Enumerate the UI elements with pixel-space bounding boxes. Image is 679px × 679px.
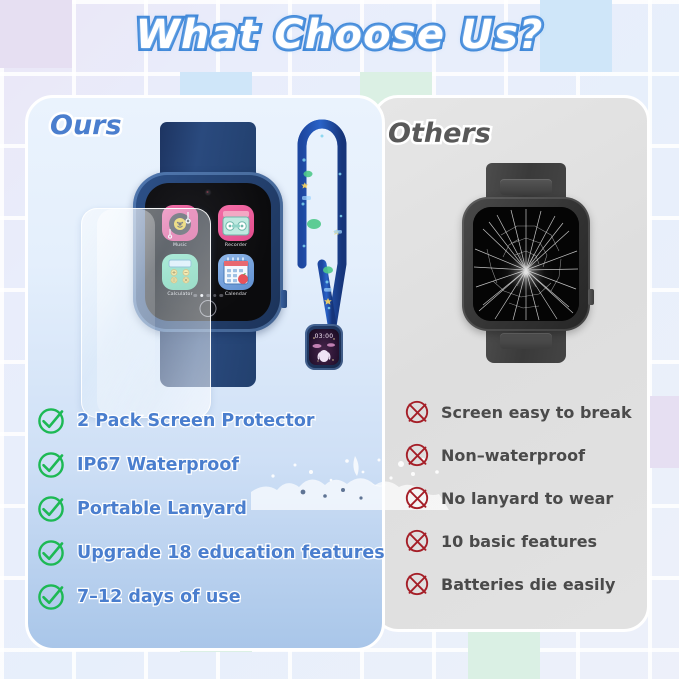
crack-pattern-icon [473,207,579,321]
list-item: IP67 Waterproof [36,450,381,480]
watch-crown-icon [588,289,594,305]
calendar-app-icon [218,254,254,290]
list-item-label: Non–waterproof [441,446,585,465]
ours-feature-list: 2 Pack Screen Protector IP67 Waterproof … [36,406,381,626]
list-item: Screen easy to break [404,399,654,425]
check-circle-icon [36,582,66,612]
screen-protector-sheet [81,208,211,418]
check-circle-icon [36,450,66,480]
list-item: 7–12 days of use [36,582,381,612]
list-item-label: 10 basic features [441,532,597,551]
list-item-label: No lanyard to wear [441,489,613,508]
cross-circle-icon [404,399,430,425]
app-label: Recorder [215,243,257,248]
others-header: Others [388,118,491,149]
list-item: 10 basic features [404,528,654,554]
list-item: Upgrade 18 education features [36,538,381,568]
lanyard-watch-screen: 03:00 [309,329,339,365]
lanyard-watch: 03:00 [305,324,343,370]
lanyard-image: 03:00 [288,112,360,392]
list-item-label: 7–12 days of use [77,587,241,607]
watch-wallpaper-icon [309,329,339,365]
cross-circle-icon [404,528,430,554]
check-circle-icon [36,494,66,524]
cross-circle-icon [404,442,430,468]
page-dot[interactable] [219,294,223,298]
page-dot[interactable] [213,294,217,298]
list-item-label: Portable Lanyard [77,499,247,519]
app-recorder[interactable]: Recorder [215,205,257,248]
check-circle-icon [36,406,66,436]
check-circle-icon [36,538,66,568]
list-item: 2 Pack Screen Protector [36,406,381,436]
cross-circle-icon [404,485,430,511]
watch-case [462,197,590,331]
list-item: Portable Lanyard [36,494,381,524]
cross-circle-icon [404,571,430,597]
others-product-image [462,163,590,363]
recorder-app-icon [218,205,254,241]
ours-header: Ours [50,110,122,141]
camera-icon [205,189,212,196]
list-item: Batteries die easily [404,571,654,597]
list-item-label: Batteries die easily [441,575,615,594]
page-title: What Choose Us? [0,12,679,58]
app-calendar[interactable]: Calendar [215,254,257,297]
list-item-label: IP67 Waterproof [77,455,239,475]
watch-crown-icon [281,290,287,308]
ours-product-image: Music Recorder [133,122,283,387]
list-item-label: Upgrade 18 education features [77,543,385,563]
list-item-label: 2 Pack Screen Protector [77,411,315,431]
shattered-screen [473,207,579,321]
list-item: No lanyard to wear [404,485,654,511]
others-feature-list: Screen easy to break Non–waterproof No l… [404,399,654,614]
list-item-label: Screen easy to break [441,403,632,422]
list-item: Non–waterproof [404,442,654,468]
